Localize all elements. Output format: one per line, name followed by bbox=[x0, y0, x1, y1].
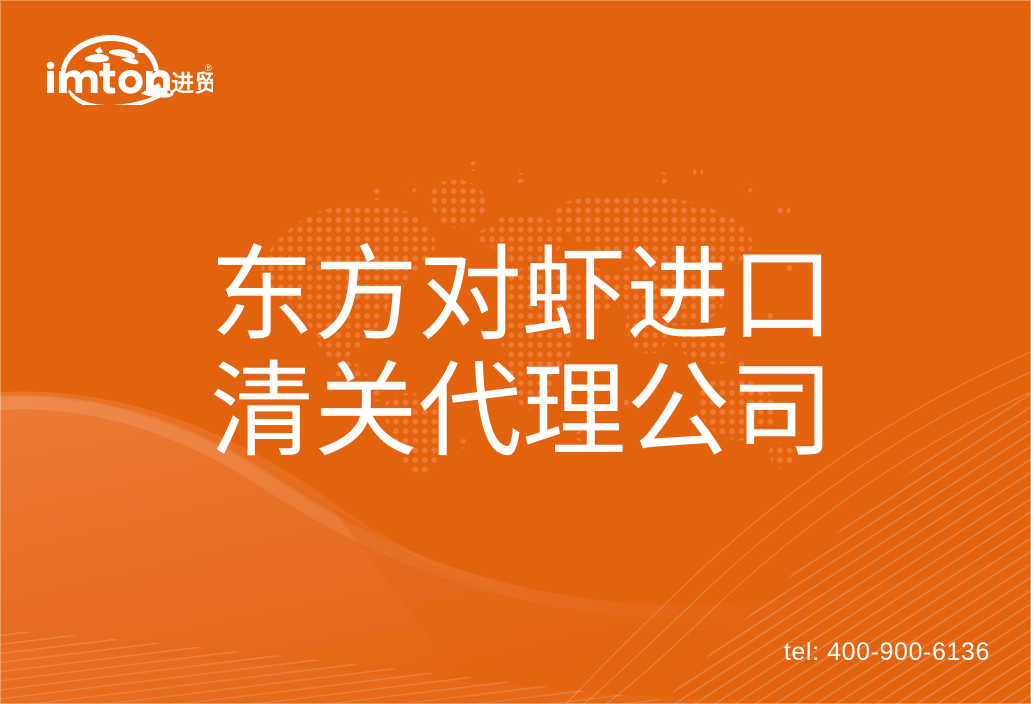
page-title: 东方对虾进口 清关代理公司 bbox=[210, 238, 834, 470]
headline-line-1: 东方对虾进口 bbox=[210, 238, 834, 354]
brand-logo[interactable]: 进贸通 ® bbox=[37, 27, 213, 105]
promo-poster: 进贸通 ® 东方对虾进口 清关代理公司 tel: 400-900-6136 bbox=[0, 0, 1031, 704]
contact-phone[interactable]: tel: 400-900-6136 bbox=[784, 638, 990, 667]
registered-trademark-icon: ® bbox=[205, 63, 212, 73]
headline-line-2: 清关代理公司 bbox=[210, 354, 834, 470]
globe-arc-icon bbox=[61, 35, 159, 71]
logo-wordmark-chinese: 进贸通 bbox=[171, 70, 213, 96]
